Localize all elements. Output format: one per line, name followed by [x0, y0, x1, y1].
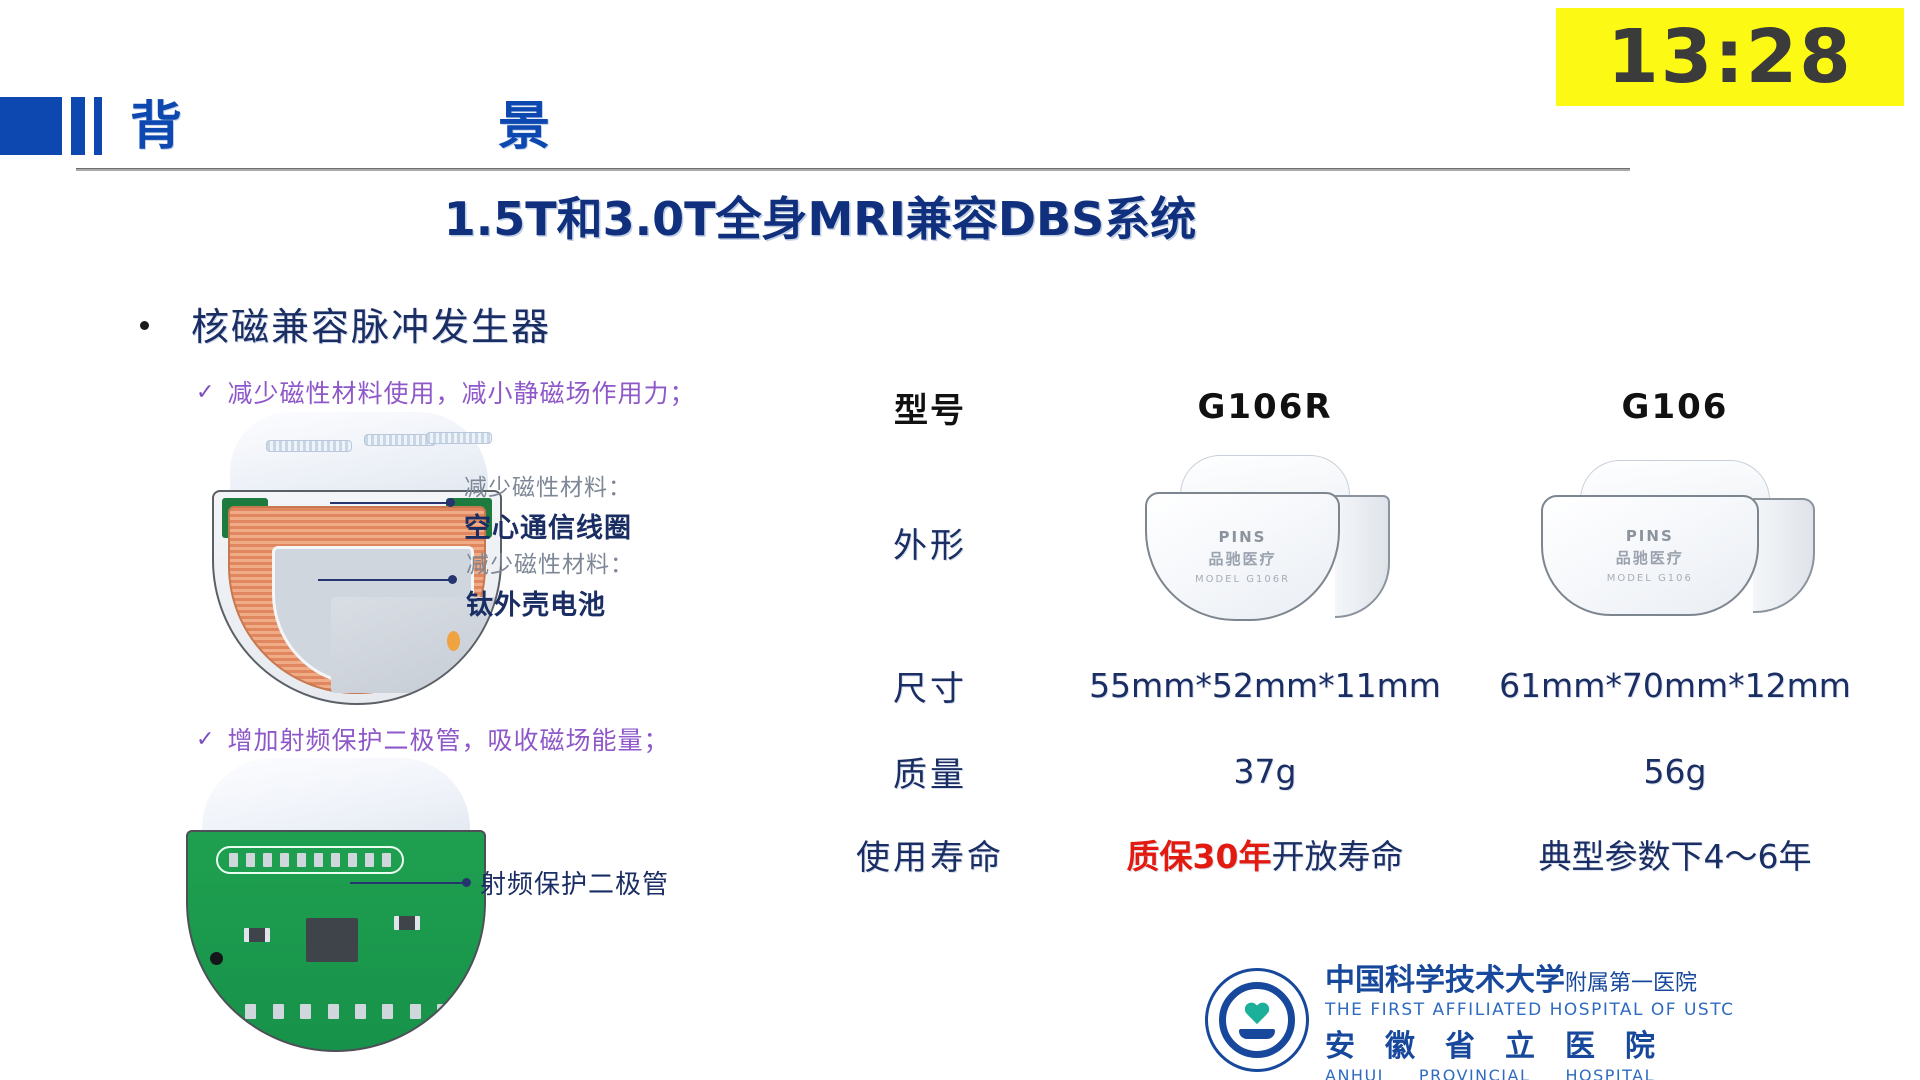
page-title: 1.5T和3.0T全身MRI兼容DBS系统 — [0, 183, 1640, 249]
device-brand: PINS — [1219, 528, 1267, 546]
device-brand: PINS — [1626, 527, 1674, 545]
logo-cn2-char: 医 — [1565, 1021, 1595, 1065]
logo-cn-line-1: 中国科学技术大学附属第一医院 — [1325, 955, 1734, 999]
logo-en-line-2: ANHUI PROVINCIAL HOSPITAL — [1325, 1066, 1655, 1080]
callout-text: 射频保护二极管 — [480, 864, 669, 901]
logo-cn-line-2: 安 徽 省 立 医 院 — [1325, 1021, 1655, 1065]
bullet-item-label: 核磁兼容脉冲发生器 — [191, 296, 551, 351]
solder-pad — [355, 1004, 366, 1019]
logo-cn2-char: 省 — [1445, 1021, 1475, 1065]
resistor-left — [244, 928, 270, 942]
table-header-g106r: G106R — [1060, 387, 1470, 427]
weight-value-g106r: 37g — [1060, 752, 1470, 791]
book-icon — [1239, 1029, 1275, 1039]
diode-component — [331, 853, 340, 867]
solder-pad — [273, 1004, 284, 1019]
callout-endpoint-dot — [462, 878, 471, 887]
section-heading-char-2: 景 — [498, 84, 550, 160]
resistor-right — [394, 916, 420, 930]
callout-text: 减少磁性材料： 钛外壳电池 — [466, 545, 634, 622]
section-heading-char-1: 背 — [130, 84, 182, 160]
timer-value: 13:28 — [1607, 20, 1853, 94]
callout-leader-line — [318, 579, 452, 581]
solder-pad-row — [218, 1004, 448, 1019]
header-accent-bar-2 — [94, 97, 102, 155]
lifetime-value-g106r: 质保30年开放寿命 — [1060, 830, 1470, 878]
check-icon: ✓ — [196, 727, 215, 752]
table-row-shape: 外形 PINS 品驰医疗 MODEL G106R PI — [800, 442, 1880, 642]
battery-terminal-marker — [447, 631, 460, 651]
callout-leader-line — [350, 882, 466, 884]
connector-pin-3 — [426, 432, 492, 444]
logo-affiliation: 附属第一医院 — [1565, 971, 1697, 996]
callout-coil: 减少磁性材料： 空心通信线圈 — [330, 486, 730, 526]
diode-component — [263, 853, 272, 867]
row-label-lifetime: 使用寿命 — [800, 830, 1060, 879]
row-label-shape: 外形 — [800, 518, 1060, 567]
lifetime-highlight: 质保30年 — [1127, 837, 1272, 876]
size-value-g106: 61mm*70mm*12mm — [1470, 666, 1880, 705]
solder-pad — [245, 1004, 256, 1019]
ipg-cutaway-figure — [212, 412, 502, 707]
logo-cn2-char: 徽 — [1385, 1021, 1415, 1065]
sub-bullet-item-2: ✓ 增加射频保护二极管，吸收磁场能量； — [196, 721, 669, 757]
logo-en2-word: HOSPITAL — [1565, 1066, 1655, 1080]
device-brand-cn: 品驰医疗 — [1616, 547, 1684, 568]
diode-component — [314, 853, 323, 867]
sub-bullet-label-1: 减少磁性材料使用，减小静磁场作用力； — [227, 374, 695, 410]
size-value-g106r: 55mm*52mm*11mm — [1060, 666, 1470, 705]
device-model-engraving: MODEL G106 — [1607, 573, 1693, 584]
callout-endpoint-dot — [446, 498, 455, 507]
weight-value-g106: 56g — [1470, 752, 1880, 791]
header-divider-rule — [76, 168, 1630, 171]
diode-component — [297, 853, 306, 867]
table-header-model: 型号 — [800, 383, 1060, 432]
hospital-seal-icon — [1205, 968, 1309, 1072]
logo-en2-word: PROVINCIAL — [1419, 1066, 1530, 1080]
callout-endpoint-dot — [448, 575, 457, 584]
logo-cn2-char: 院 — [1625, 1021, 1655, 1065]
hospital-logo-text: 中国科学技术大学附属第一医院 THE FIRST AFFILIATED HOSP… — [1325, 955, 1734, 1080]
device-brand-cn: 品驰医疗 — [1208, 548, 1276, 569]
solder-pad — [328, 1004, 339, 1019]
device-image-g106r-cell: PINS 品驰医疗 MODEL G106R — [1060, 455, 1470, 630]
callout-battery: 减少磁性材料： 钛外壳电池 — [318, 563, 738, 603]
solder-pad — [300, 1004, 311, 1019]
logo-cn2-char: 立 — [1505, 1021, 1535, 1065]
diode-component — [365, 853, 374, 867]
diode-component — [280, 853, 289, 867]
device-model-engraving: MODEL G106R — [1195, 574, 1290, 585]
row-label-weight: 质量 — [800, 747, 1060, 796]
diode-component — [229, 853, 238, 867]
device-side-profile — [1753, 498, 1815, 613]
diode-component — [382, 853, 391, 867]
connector-pin-1 — [266, 440, 352, 452]
capacitor-dot — [210, 952, 223, 965]
logo-en-line-1: THE FIRST AFFILIATED HOSPITAL OF USTC — [1325, 1000, 1734, 1020]
callout-leader-line — [330, 502, 450, 504]
diode-component — [246, 853, 255, 867]
check-icon: ✓ — [196, 380, 215, 405]
device-body: PINS 品驰医疗 MODEL G106 — [1541, 495, 1759, 617]
pcb-board — [186, 830, 486, 1052]
table-row-lifetime: 使用寿命 质保30年开放寿命 典型参数下4～6年 — [800, 814, 1880, 894]
callout-line-1: 射频保护二极管 — [480, 864, 669, 901]
device-image-g106r: PINS 品驰医疗 MODEL G106R — [1140, 455, 1390, 625]
device-image-g106: PINS 品驰医疗 MODEL G106 — [1535, 460, 1815, 620]
section-heading: 背 景 — [130, 84, 550, 160]
callout-line-1: 减少磁性材料： — [466, 545, 634, 579]
diode-component — [348, 853, 357, 867]
lifetime-value-g106: 典型参数下4～6年 — [1470, 830, 1880, 878]
solder-pad — [218, 1004, 229, 1019]
header-accent-block — [0, 97, 62, 155]
table-header-row: 型号 G106R G106 — [800, 372, 1880, 442]
callout-line-1: 减少磁性材料： — [464, 468, 632, 502]
row-label-size: 尺寸 — [800, 661, 1060, 710]
bullet-dot-icon — [140, 321, 149, 330]
logo-university-name: 中国科学技术大学 — [1325, 963, 1565, 998]
rf-protection-diode-array — [216, 846, 404, 874]
callout-rf-diode: 射频保护二极管 — [350, 872, 750, 912]
table-row-weight: 质量 37g 56g — [800, 728, 1880, 814]
table-header-g106: G106 — [1470, 387, 1880, 427]
solder-pad — [437, 1004, 448, 1019]
slide-root: 13:28 背 景 1.5T和3.0T全身MRI兼容DBS系统 核磁兼容脉冲发生… — [0, 0, 1920, 1080]
callout-line-2: 钛外壳电池 — [466, 583, 634, 622]
device-comparison-table: 型号 G106R G106 外形 PINS 品驰医疗 MODEL G106R — [800, 372, 1880, 894]
logo-en2-word: ANHUI — [1325, 1066, 1384, 1080]
device-image-g106-cell: PINS 品驰医疗 MODEL G106 — [1470, 460, 1880, 625]
heart-icon — [1244, 1003, 1270, 1027]
presentation-timer-badge: 13:28 — [1556, 8, 1904, 106]
callout-line-2: 空心通信线圈 — [464, 506, 632, 545]
sub-bullet-item-1: ✓ 减少磁性材料使用，减小静磁场作用力； — [196, 374, 695, 410]
solder-pad — [382, 1004, 393, 1019]
device-side-profile — [1335, 495, 1390, 617]
header-accent-bar-1 — [71, 97, 85, 155]
device-body: PINS 品驰医疗 MODEL G106R — [1145, 492, 1340, 621]
table-row-size: 尺寸 55mm*52mm*11mm 61mm*70mm*12mm — [800, 642, 1880, 728]
bullet-item: 核磁兼容脉冲发生器 — [140, 296, 551, 351]
sub-bullet-label-2: 增加射频保护二极管，吸收磁场能量； — [227, 721, 669, 757]
callout-text: 减少磁性材料： 空心通信线圈 — [464, 468, 632, 545]
solder-pad — [410, 1004, 421, 1019]
ic-chip — [306, 918, 358, 962]
logo-cn2-char: 安 — [1325, 1021, 1355, 1065]
pcb-connector-header — [202, 758, 470, 836]
hospital-logo: 中国科学技术大学附属第一医院 THE FIRST AFFILIATED HOSP… — [1205, 955, 1734, 1080]
lifetime-rest: 开放寿命 — [1271, 837, 1403, 876]
